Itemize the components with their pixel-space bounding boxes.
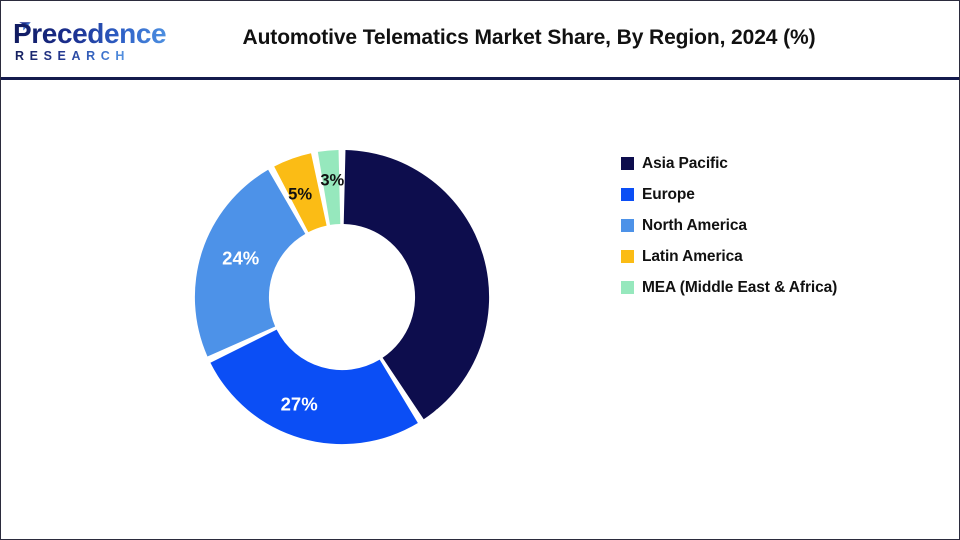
legend-swatch-asia-pacific	[621, 157, 634, 170]
donut-slice-value-label: 5%	[288, 184, 312, 203]
donut-slice-value-label: 27%	[281, 394, 318, 415]
legend-label-mea: MEA (Middle East & Africa)	[642, 279, 837, 297]
legend-swatch-mea	[621, 281, 634, 294]
legend-label-europe: Europe	[642, 186, 695, 204]
legend-item-north-america[interactable]: North America	[621, 210, 921, 241]
chart-plot-area: 41%27%24%5%3% Asia Pacific Europe North …	[1, 80, 959, 539]
legend-swatch-latin-america	[621, 250, 634, 263]
donut-slice-value-label: 24%	[222, 248, 259, 269]
legend-item-asia-pacific[interactable]: Asia Pacific	[621, 148, 921, 179]
chart-legend: Asia Pacific Europe North America Latin …	[621, 148, 921, 303]
logo-subtitle: RESEARCH	[15, 49, 130, 63]
donut-slice-value-label: 41%	[431, 405, 468, 426]
donut-slice-value-label: 3%	[320, 171, 344, 190]
donut-chart: 41%27%24%5%3%	[191, 146, 493, 448]
header-bar: Precedence RESEARCH Automotive Telematic…	[1, 1, 959, 78]
precedence-research-logo: Precedence RESEARCH	[13, 19, 163, 65]
legend-swatch-europe	[621, 188, 634, 201]
legend-swatch-north-america	[621, 219, 634, 232]
logo-wordmark: Precedence	[13, 19, 166, 49]
legend-label-north-america: North America	[642, 217, 747, 235]
donut-slice[interactable]	[210, 330, 417, 444]
legend-item-mea[interactable]: MEA (Middle East & Africa)	[621, 272, 921, 303]
donut-slice-group	[195, 150, 489, 444]
legend-label-asia-pacific: Asia Pacific	[642, 155, 728, 173]
legend-item-latin-america[interactable]: Latin America	[621, 241, 921, 272]
donut-chart-svg: 41%27%24%5%3%	[191, 146, 493, 448]
legend-item-europe[interactable]: Europe	[621, 179, 921, 210]
chart-page: Precedence RESEARCH Automotive Telematic…	[0, 0, 960, 540]
page-title: Automotive Telematics Market Share, By R…	[179, 23, 879, 53]
legend-label-latin-america: Latin America	[642, 248, 743, 266]
